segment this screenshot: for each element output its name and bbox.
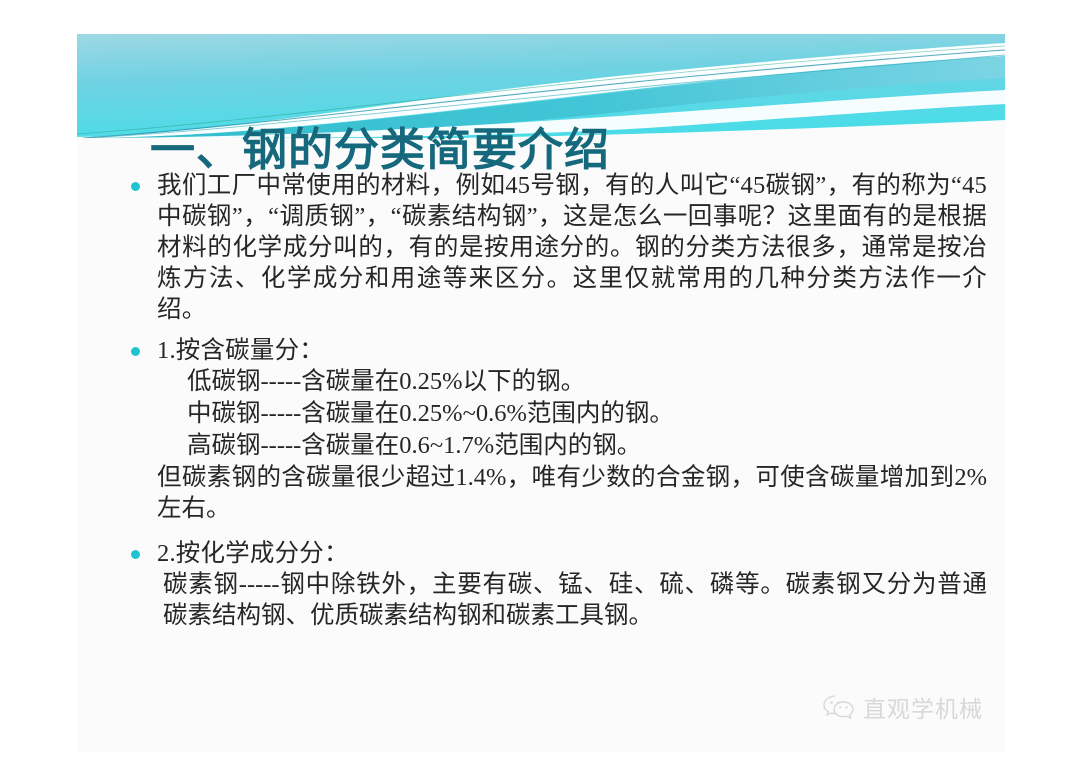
low-carbon-steel-line: 低碳钢-----含碳量在0.25%以下的钢。 (109, 366, 987, 398)
bullet-dot-icon (131, 550, 140, 559)
wechat-icon (822, 694, 856, 720)
page-title: 一、钢的分类简要介绍 (150, 126, 610, 173)
bullet-row: 1.按含碳量分： (109, 335, 987, 366)
intro-paragraph: 我们工厂中常使用的材料，例如45号钢，有的人叫它“45碳钢”，有的称为“45中碳… (157, 170, 987, 325)
carbon-note: 但碳素钢的含碳量很少超过1.4%，唯有少数的合金钢，可使含碳量增加到2%左右。 (109, 462, 987, 524)
bullet-row: 我们工厂中常使用的材料，例如45号钢，有的人叫它“45碳钢”，有的称为“45中碳… (109, 170, 987, 325)
content-block-intro: 我们工厂中常使用的材料，例如45号钢，有的人叫它“45碳钢”，有的称为“45中碳… (109, 170, 987, 325)
header-wave-graphic (77, 34, 1005, 138)
watermark-text: 直观学机械 (863, 690, 983, 724)
header-wave-banner (77, 34, 1005, 138)
carbon-heading: 1.按含碳量分： (157, 335, 987, 366)
spacer (109, 327, 987, 335)
bullet-row: 2.按化学成分分： (109, 538, 987, 569)
spacer (109, 526, 987, 538)
content-block-by-carbon-content: 1.按含碳量分： 低碳钢-----含碳量在0.25%以下的钢。 中碳钢-----… (109, 335, 987, 524)
medium-carbon-steel-line: 中碳钢-----含碳量在0.25%~0.6%范围内的钢。 (109, 398, 987, 430)
composition-note: 碳素钢-----钢中除铁外，主要有碳、锰、硅、硫、磷等。碳素钢又分为普通碳素结构… (109, 569, 987, 631)
high-carbon-steel-line: 高碳钢-----含碳量在0.6~1.7%范围内的钢。 (109, 430, 987, 462)
content-block-by-chemical-composition: 2.按化学成分分： 碳素钢-----钢中除铁外，主要有碳、锰、硅、硫、磷等。碳素… (109, 538, 987, 631)
bullet-dot-icon (131, 347, 140, 356)
composition-heading: 2.按化学成分分： (157, 538, 987, 569)
slide-canvas: 一、钢的分类简要介绍 我们工厂中常使用的材料，例如45号钢，有的人叫它“45碳钢… (77, 34, 1005, 752)
slide-body: 我们工厂中常使用的材料，例如45号钢，有的人叫它“45碳钢”，有的称为“45中碳… (109, 170, 987, 633)
watermark: 直观学机械 (822, 690, 983, 724)
bullet-dot-icon (131, 182, 140, 191)
